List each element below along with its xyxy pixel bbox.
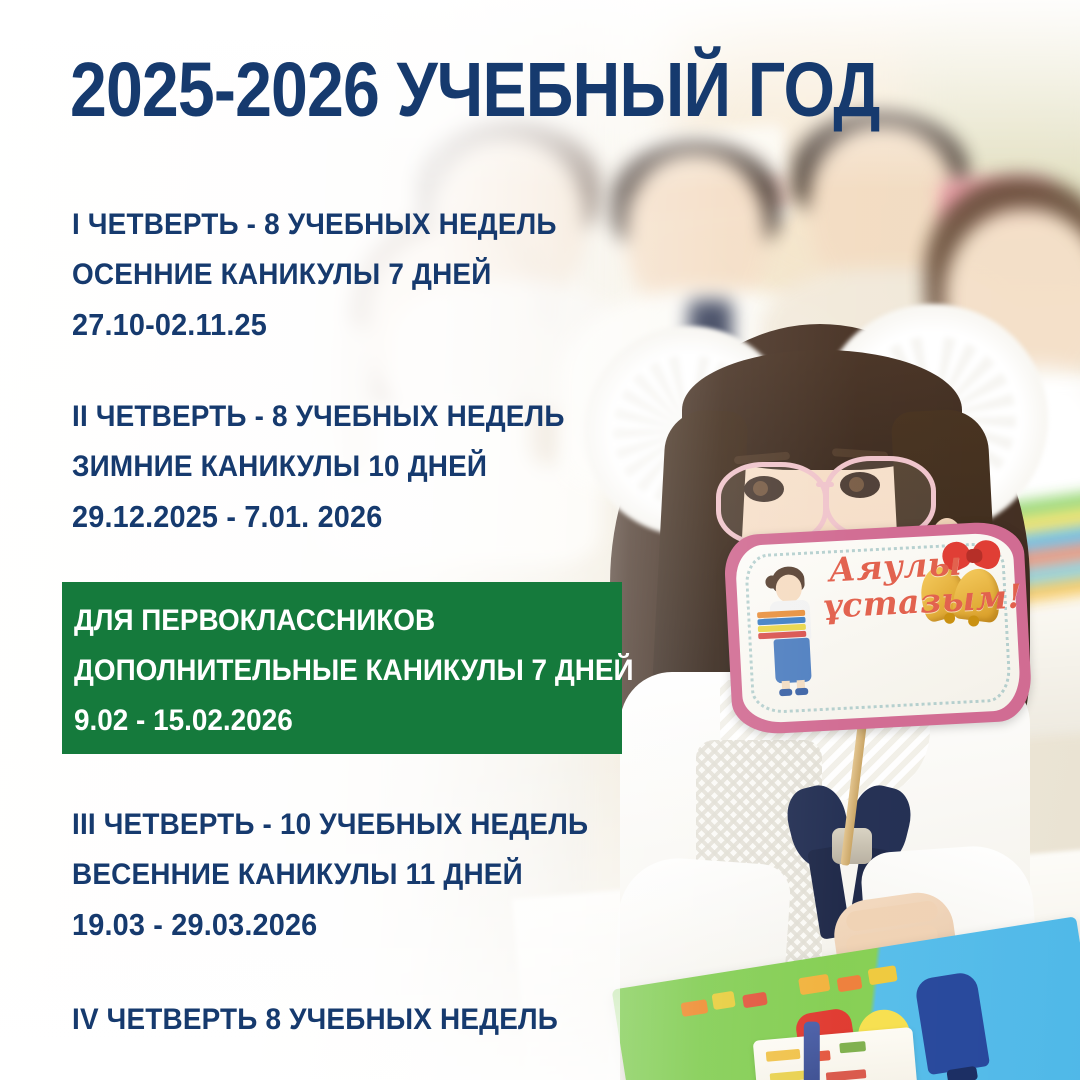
quarter-1-line-2: ОСЕННИЕ КАНИКУЛЫ 7 ДНЕЙ bbox=[72, 250, 557, 300]
page-title: 2025-2026 УЧЕБНЫЙ ГОД bbox=[70, 52, 880, 129]
quarter-4-line-1: IV ЧЕТВЕРТЬ 8 УЧЕБНЫХ НЕДЕЛЬ bbox=[72, 995, 558, 1045]
quarter-3-block: III ЧЕТВЕРТЬ - 10 УЧЕБНЫХ НЕДЕЛЬ ВЕСЕННИ… bbox=[72, 800, 627, 950]
quarter-2-line-1: II ЧЕТВЕРТЬ - 8 УЧЕБНЫХ НЕДЕЛЬ bbox=[72, 392, 565, 442]
first-graders-line-2: ДОПОЛНИТЕЛЬНЫЕ КАНИКУЛЫ 7 ДНЕЙ bbox=[74, 646, 634, 696]
quarter-3-line-1: III ЧЕТВЕРТЬ - 10 УЧЕБНЫХ НЕДЕЛЬ bbox=[72, 800, 588, 850]
quarter-2-dates: 29.12.2025 - 7.01. 2026 bbox=[72, 492, 565, 542]
quarter-1-dates: 27.10-02.11.25 bbox=[72, 300, 557, 350]
quarter-1-line-1: I ЧЕТВЕРТЬ - 8 УЧЕБНЫХ НЕДЕЛЬ bbox=[72, 200, 557, 250]
first-graders-highlight-block: ДЛЯ ПЕРВОКЛАССНИКОВ ДОПОЛНИТЕЛЬНЫЕ КАНИК… bbox=[62, 582, 622, 754]
quarter-3-dates: 19.03 - 29.03.2026 bbox=[72, 900, 588, 950]
quarter-1-block: I ЧЕТВЕРТЬ - 8 УЧЕБНЫХ НЕДЕЛЬ ОСЕННИЕ КА… bbox=[72, 200, 593, 350]
quarter-4-block: IV ЧЕТВЕРТЬ 8 УЧЕБНЫХ НЕДЕЛЬ bbox=[72, 995, 595, 1045]
first-graders-line-1: ДЛЯ ПЕРВОКЛАССНИКОВ bbox=[74, 596, 634, 646]
first-graders-text: ДЛЯ ПЕРВОКЛАССНИКОВ ДОПОЛНИТЕЛЬНЫЕ КАНИК… bbox=[74, 596, 676, 746]
quarter-2-block: II ЧЕТВЕРТЬ - 8 УЧЕБНЫХ НЕДЕЛЬ ЗИМНИЕ КА… bbox=[72, 392, 602, 542]
poster-content: 2025-2026 УЧЕБНЫЙ ГОД I ЧЕТВЕРТЬ - 8 УЧЕ… bbox=[0, 0, 1080, 1080]
first-graders-dates: 9.02 - 15.02.2026 bbox=[74, 696, 634, 746]
quarter-3-line-2: ВЕСЕННИЕ КАНИКУЛЫ 11 ДНЕЙ bbox=[72, 850, 588, 900]
poster-canvas: Аяулы ұстазым! 2025-2026 УЧЕБНЫЙ ГОД I bbox=[0, 0, 1080, 1080]
quarter-2-line-2: ЗИМНИЕ КАНИКУЛЫ 10 ДНЕЙ bbox=[72, 442, 565, 492]
